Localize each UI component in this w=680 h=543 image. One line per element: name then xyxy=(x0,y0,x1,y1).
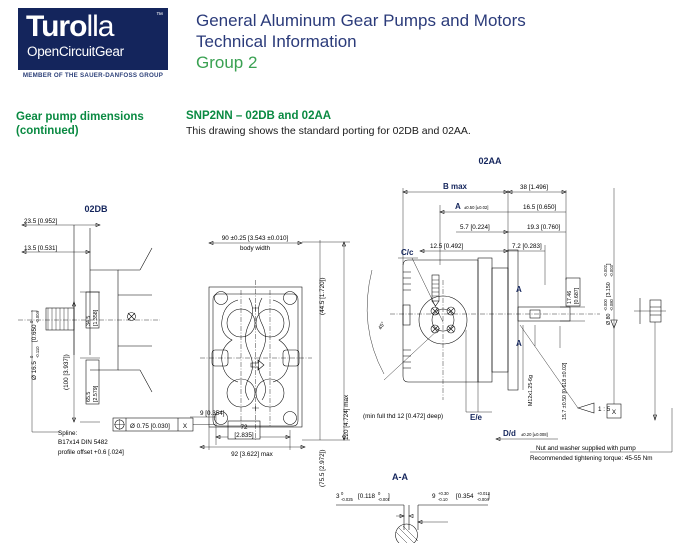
dim-72-aa: 7.2 [0.283] xyxy=(512,243,542,250)
svg-text:Ø 80: Ø 80 xyxy=(606,313,612,325)
svg-text:34.5: 34.5 xyxy=(86,316,92,326)
nut-washer-symbol xyxy=(634,298,666,420)
svg-text:0: 0 xyxy=(378,491,381,496)
pump-side-view-02aa xyxy=(390,250,600,400)
label-taper: 1 : 5 xyxy=(598,406,611,413)
logo-wordmark-rest: lla xyxy=(86,10,113,43)
dim-b-max: B max xyxy=(443,182,468,191)
title-line-1: General Aluminum Gear Pumps and Motors xyxy=(196,10,526,31)
section-heading-line-1: Gear pump dimensions xyxy=(16,110,186,124)
dim-dd-tolerance: ±0.20 [±0.008] xyxy=(521,432,548,437)
svg-text:+0.30: +0.30 xyxy=(438,491,449,496)
svg-text:B17x14 DIN 5482: B17x14 DIN 5482 xyxy=(58,439,108,446)
datum-x-02aa: X xyxy=(612,409,617,416)
note-thread-depth: (min full thd 12 [0.472] deep) xyxy=(363,413,443,420)
svg-text:-0.10: -0.10 xyxy=(438,497,448,502)
dim-157: 15.7 ±0.50 [0.618 ±0.02] xyxy=(562,362,568,420)
svg-text:[1.358]: [1.358] xyxy=(93,309,99,326)
dim-a-tolerance: ±0.50 [±0.02] xyxy=(464,205,488,210)
logo-subtitle: OpenCircuitGear xyxy=(27,44,124,59)
dim-655: 65.5 [2.579] xyxy=(86,385,99,402)
section-subheading: SNP2NN – 02DB and 02AA This drawing show… xyxy=(186,110,471,137)
svg-text:45°: 45° xyxy=(378,321,387,331)
label-ee: E/e xyxy=(470,413,483,422)
svg-text:[3.150: [3.150 xyxy=(606,282,612,297)
spline-note: Spline: B17x14 DIN 5482 profile offset +… xyxy=(58,430,124,456)
svg-text:(100 [3.937]): (100 [3.937]) xyxy=(63,354,70,390)
svg-text:]: ] xyxy=(388,493,390,500)
section-aa-title: A-A xyxy=(392,472,408,482)
svg-text:profile offset +0.6 [.024]: profile offset +0.6 [.024] xyxy=(58,449,124,456)
svg-text:[2.579]: [2.579] xyxy=(93,385,99,402)
svg-text:]: ] xyxy=(488,493,490,500)
dim-1746: 17.46 [0.687] xyxy=(567,287,580,304)
logo-box: Turolla ™ OpenCircuitGear xyxy=(18,8,168,70)
gdt-datum: X xyxy=(183,423,188,430)
dim-38: 38 [1.496] xyxy=(520,184,548,191)
dim-72-inch: [2.835] xyxy=(234,432,254,439)
section-marker-a-bottom: A xyxy=(516,339,522,348)
dim-193: 19.3 [0.760] xyxy=(527,224,561,231)
dim-a: A xyxy=(455,202,461,211)
logo-wordmark-main: Turo xyxy=(26,10,86,43)
drawing-title-02aa: 02AA xyxy=(478,156,502,166)
svg-text:Spline:: Spline: xyxy=(58,430,78,437)
dim-135: 13.5 [0.531] xyxy=(24,245,58,252)
company-logo: Turolla ™ OpenCircuitGear MEMBER OF THE … xyxy=(18,8,168,79)
svg-text:-0.110: -0.110 xyxy=(35,346,40,358)
svg-text:0: 0 xyxy=(29,355,34,358)
section-heading-line-2: (continued) xyxy=(16,124,186,138)
drawing-title-02db: 02DB xyxy=(84,204,108,214)
dim-body-width: 90 ±0.25 [3.543 ±0.010] xyxy=(222,235,289,242)
dim-755: (75.5 [2.972]) xyxy=(319,450,326,487)
svg-text:-0.002: -0.002 xyxy=(603,264,608,277)
svg-text:-0.003: -0.003 xyxy=(609,264,614,277)
gdt-tolerance: Ø 0.75 [0.030] xyxy=(130,423,170,430)
dim-125: 12.5 [0.492] xyxy=(430,243,464,250)
svg-text:M12x1.25-6g: M12x1.25-6g xyxy=(528,375,534,406)
title-line-3: Group 2 xyxy=(196,52,526,73)
dim-345: 34.5 [1.358] xyxy=(86,309,99,326)
label-thread: M12x1.25-6g xyxy=(528,375,534,406)
dim-235: 23.5 [0.952] xyxy=(24,218,58,225)
svg-text:[0.118: [0.118 xyxy=(358,493,376,500)
note-line-1: Nut and washer supplied with pump xyxy=(536,445,636,452)
logo-member-line: MEMBER OF THE SAUER-DANFOSS GROUP xyxy=(18,72,168,79)
svg-text:9: 9 xyxy=(432,493,436,500)
svg-text:-0.080: -0.080 xyxy=(609,298,614,311)
section-aa-detail: 3 0 -0.025 [0.118 0 -0.001 ] 9 +0.30 -0.… xyxy=(336,491,491,543)
svg-text:17.46: 17.46 xyxy=(567,291,573,304)
svg-text:-0.025: -0.025 xyxy=(341,497,354,502)
dim-100: (100 [3.937]) xyxy=(63,354,70,390)
assembly-notes: Nut and washer supplied with pump Recomm… xyxy=(530,408,672,462)
svg-text:65.5: 65.5 xyxy=(86,392,92,402)
note-line-2: Recommended tightening torque: 45-55 Nm xyxy=(530,455,653,462)
svg-text:[0.687]: [0.687] xyxy=(574,287,580,304)
svg-text:]: ] xyxy=(606,263,612,265)
dim-57: 5.7 [0.224] xyxy=(460,224,490,231)
trademark-symbol: ™ xyxy=(156,12,163,19)
dim-pilot-diameter: Ø 80 -0.000 -0.080 [3.150 -0.002 -0.003 … xyxy=(603,263,614,325)
svg-text:15.7 ±0.50 [0.618 ±0.02]: 15.7 ±0.50 [0.618 ±0.02] xyxy=(562,362,568,420)
dim-9: 9 [0.354] xyxy=(200,410,225,417)
svg-text:3: 3 xyxy=(336,493,340,500)
svg-text:[0.354: [0.354 xyxy=(456,493,474,500)
section-heading: Gear pump dimensions (continued) xyxy=(16,110,186,138)
dim-shaft-diameter: Ø 16.5 0 -0.110 [0.650 0 -0.004 ] xyxy=(29,310,40,380)
label-dd: D/d xyxy=(503,429,516,438)
page-title: General Aluminum Gear Pumps and Motors T… xyxy=(196,10,526,73)
svg-text:(75.5 [2.972]): (75.5 [2.972]) xyxy=(319,450,326,487)
svg-text:-0.000: -0.000 xyxy=(603,298,608,311)
svg-text:0: 0 xyxy=(341,491,344,496)
logo-wordmark: Turolla xyxy=(26,10,113,44)
section-description: This drawing shows the standard porting … xyxy=(186,125,471,137)
dim-165: 16.5 [0.650] xyxy=(523,204,557,211)
label-angle: 45° xyxy=(378,321,387,331)
title-line-2: Technical Information xyxy=(196,31,526,52)
technical-drawing: 02DB 23.5 [0.952] 13.5 [0.531] Ø 16.5 xyxy=(0,150,680,543)
section-marker-a-top: A xyxy=(516,285,522,294)
label-cc: C/c xyxy=(401,248,414,257)
dim-body-width-note: body width xyxy=(240,245,271,252)
dim-72: 72 xyxy=(240,424,248,431)
model-code: SNP2NN – 02DB and 02AA xyxy=(186,110,471,122)
gdt-feature-frame: Ø 0.75 [0.030] X xyxy=(113,418,215,431)
dim-92: 92 [3.622] max xyxy=(231,451,274,458)
svg-text:0: 0 xyxy=(29,320,34,323)
